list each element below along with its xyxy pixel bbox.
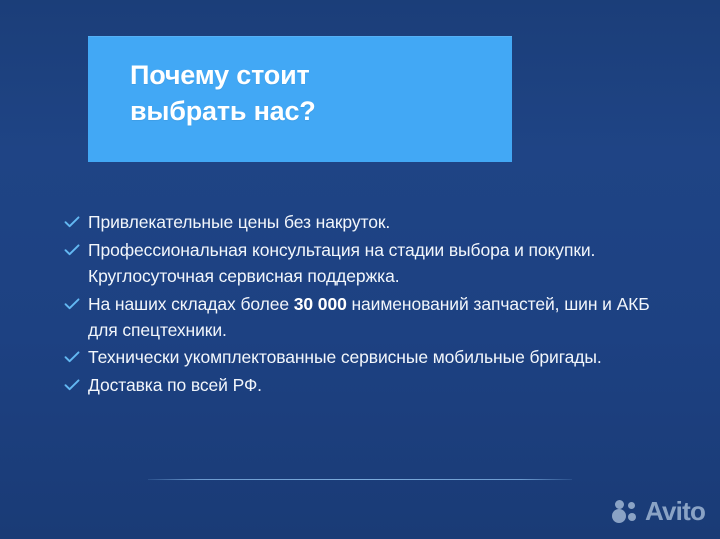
check-icon bbox=[64, 238, 88, 256]
list-item-text: На наших складах более 30 000 наименован… bbox=[88, 292, 650, 344]
title-banner: Почему стоит выбрать нас? bbox=[88, 36, 512, 162]
list-item-text: Профессиональная консультация на стадии … bbox=[88, 238, 650, 290]
list-item: Профессиональная консультация на стадии … bbox=[64, 238, 664, 290]
avito-watermark: Avito bbox=[612, 494, 705, 528]
divider bbox=[148, 479, 572, 480]
check-icon bbox=[64, 210, 88, 228]
avito-wordmark: Avito bbox=[645, 498, 705, 524]
inventory-count: 30 000 bbox=[294, 294, 347, 314]
list-item-text: Привлекательные цены без накруток. bbox=[88, 210, 650, 236]
list-item: Привлекательные цены без накруток. bbox=[64, 210, 664, 236]
check-icon bbox=[64, 345, 88, 363]
check-icon bbox=[64, 292, 88, 310]
list-item-text: Доставка по всей РФ. bbox=[88, 373, 650, 399]
slide-canvas: Почему стоит выбрать нас? Привлекательны… bbox=[0, 0, 720, 539]
list-item: Доставка по всей РФ. bbox=[64, 373, 664, 399]
benefits-list: Привлекательные цены без накруток. Профе… bbox=[64, 210, 664, 401]
page-title: Почему стоит выбрать нас? bbox=[130, 58, 498, 130]
list-item: Технически укомплектованные сервисные мо… bbox=[64, 345, 664, 371]
list-item-text: Технически укомплектованные сервисные мо… bbox=[88, 345, 650, 371]
check-icon bbox=[64, 373, 88, 391]
list-item: На наших складах более 30 000 наименован… bbox=[64, 292, 664, 344]
list-item-text-before: На наших складах более bbox=[88, 294, 294, 314]
avito-dots-icon bbox=[612, 498, 642, 524]
